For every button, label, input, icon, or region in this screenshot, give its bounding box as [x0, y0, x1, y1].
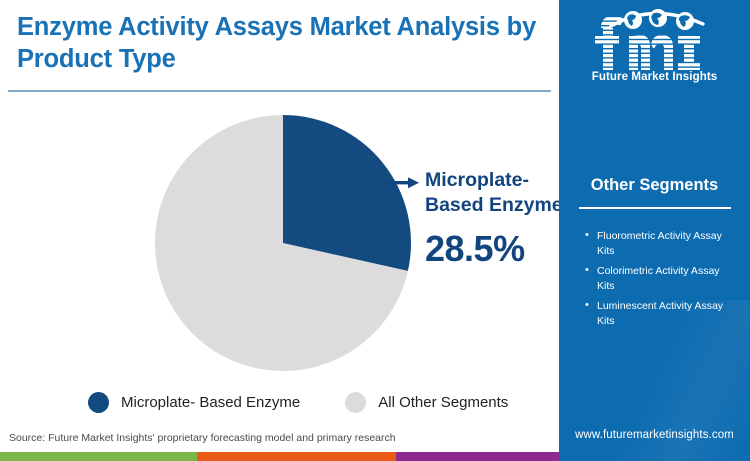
- legend-swatch-gray: [345, 392, 366, 413]
- other-segments-divider: [579, 207, 731, 209]
- content-panel: Enzyme Activity Assays Market Analysis b…: [0, 0, 559, 461]
- legend-item-all-other-segments: All Other Segments: [345, 392, 508, 413]
- arrow-right-icon: [386, 176, 420, 190]
- legend-label: Microplate- Based Enzyme: [121, 394, 300, 411]
- brand-panel: Future Market Insights Other Segments Fl…: [559, 0, 750, 461]
- fmi-logo-mark: [585, 8, 725, 70]
- other-segments-title: Other Segments: [559, 176, 750, 195]
- callout-label: Microplate- Based Enzyme: [425, 168, 565, 219]
- globe-europe-icon: [649, 9, 667, 27]
- website-url[interactable]: www.futuremarketinsights.com: [559, 429, 750, 441]
- title-divider: [8, 90, 551, 92]
- pie-chart: [150, 112, 420, 377]
- bottom-color-bar: [0, 452, 559, 461]
- list-item: Fluorometric Activity Assay Kits: [585, 229, 735, 259]
- source-note: Source: Future Market Insights' propriet…: [9, 432, 396, 444]
- list-item: Luminescent Activity Assay Kits: [585, 299, 735, 329]
- bar-segment-orange: [197, 452, 396, 461]
- chart-legend: Microplate- Based Enzyme All Other Segme…: [88, 392, 508, 413]
- logo-tagline: Future Market Insights: [559, 71, 750, 83]
- fmi-logo: Future Market Insights: [559, 8, 750, 83]
- bar-segment-green: [0, 452, 197, 461]
- legend-swatch-navy: [88, 392, 109, 413]
- page-title: Enzyme Activity Assays Market Analysis b…: [17, 11, 537, 76]
- bar-segment-purple: [396, 452, 559, 461]
- legend-item-microplate-based-enzyme: Microplate- Based Enzyme: [88, 392, 300, 413]
- globe-americas-icon: [624, 11, 642, 29]
- callout-label-line1: Microplate-: [425, 169, 529, 191]
- callout-value: 28.5%: [425, 228, 525, 270]
- callout-label-line2: Based Enzyme: [425, 194, 563, 216]
- pie-chart-svg: [150, 112, 420, 377]
- infographic-page: Enzyme Activity Assays Market Analysis b…: [0, 0, 750, 461]
- legend-label: All Other Segments: [378, 394, 508, 411]
- list-item: Colorimetric Activity Assay Kits: [585, 264, 735, 294]
- other-segments-list: Fluorometric Activity Assay Kits Colorim…: [585, 229, 735, 333]
- globe-asia-icon: [676, 12, 694, 30]
